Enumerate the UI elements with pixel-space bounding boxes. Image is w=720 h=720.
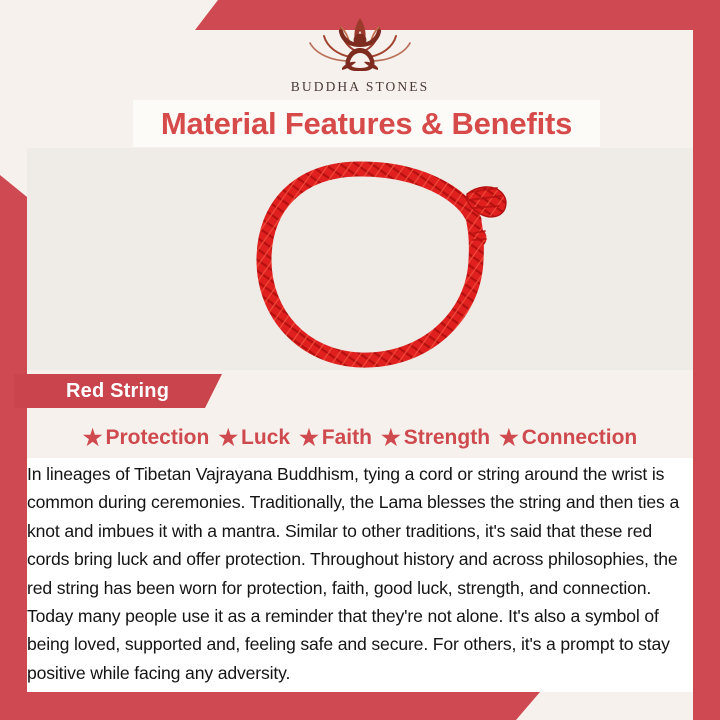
- feature-label: Faith: [322, 426, 372, 450]
- frame-bottom-left-bar: [0, 692, 540, 720]
- feature-item-protection: ★ Protection: [83, 426, 210, 450]
- material-label-banner: Red String: [14, 374, 222, 408]
- feature-item-strength: ★ Strength: [381, 426, 490, 450]
- feature-label: Strength: [404, 426, 490, 450]
- feature-list: ★ Protection ★ Luck ★ Faith ★ Strength ★…: [27, 420, 693, 456]
- feature-item-connection: ★ Connection: [499, 426, 637, 450]
- feature-item-luck: ★ Luck: [218, 426, 290, 450]
- frame-right-bar: [693, 0, 720, 720]
- frame-left-bar: [0, 175, 27, 720]
- feature-label: Protection: [105, 426, 209, 450]
- feature-item-faith: ★ Faith: [299, 426, 372, 450]
- red-string-bracelet-image: [27, 148, 693, 370]
- page-title-banner: Material Features & Benefits: [133, 100, 600, 147]
- product-image: [27, 148, 693, 370]
- brand-name: BUDDHA STONES: [0, 79, 720, 95]
- star-icon: ★: [381, 427, 401, 449]
- description-text: In lineages of Tibetan Vajrayana Buddhis…: [27, 458, 693, 687]
- feature-label: Connection: [522, 426, 638, 450]
- material-label-text: Red String: [66, 380, 169, 403]
- description-card: In lineages of Tibetan Vajrayana Buddhis…: [27, 458, 693, 692]
- feature-label: Luck: [241, 426, 290, 450]
- lotus-meditation-icon: [294, 14, 426, 76]
- product-info-poster: BUDDHA STONES Material Features & Benefi…: [0, 0, 720, 720]
- star-icon: ★: [499, 427, 519, 449]
- brand-logo: BUDDHA STONES: [0, 14, 720, 95]
- star-icon: ★: [299, 427, 319, 449]
- page-title: Material Features & Benefits: [161, 106, 572, 142]
- star-icon: ★: [218, 427, 238, 449]
- star-icon: ★: [83, 427, 103, 449]
